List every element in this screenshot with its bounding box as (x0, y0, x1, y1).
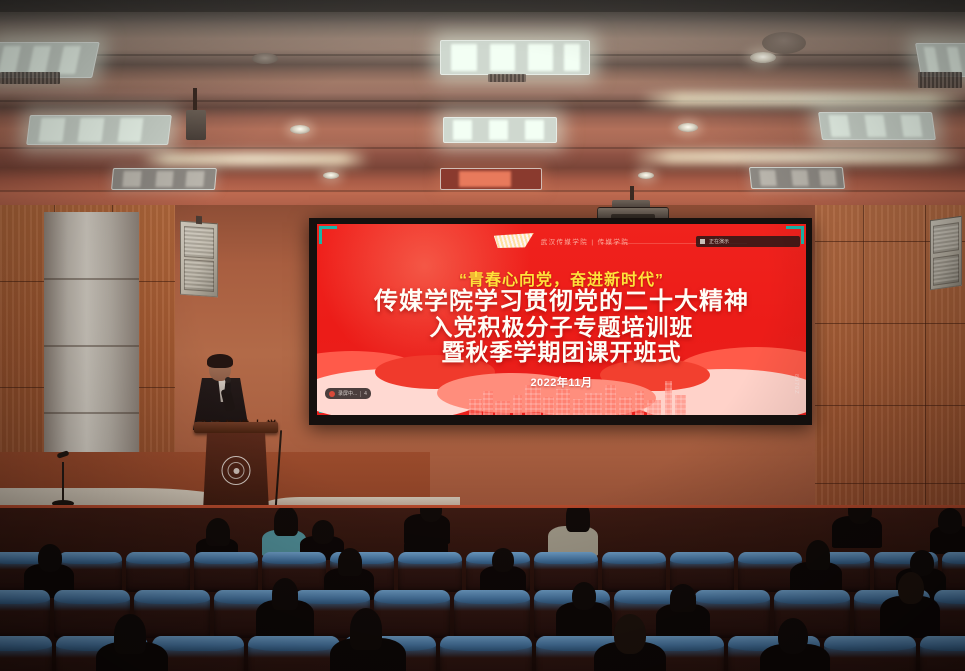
ceiling-panel-light (440, 40, 590, 75)
ceiling-panel-light (111, 168, 217, 190)
auditorium-seat (440, 636, 532, 671)
auditorium-seat (374, 590, 450, 638)
audience-head (272, 578, 298, 610)
audience-head (572, 582, 596, 610)
microphone-capsule-icon (225, 377, 231, 383)
audience-head (114, 614, 146, 654)
presenting-icon (700, 239, 705, 244)
cove-light-strip-3 (630, 150, 965, 164)
slide-title-line-1: 传媒学院学习贯彻党的二十大精神 (317, 290, 806, 316)
audience-head (338, 548, 362, 576)
presenter-hair (207, 354, 233, 368)
podium-top (194, 422, 278, 433)
ceiling-panel-light (818, 112, 936, 140)
audience-head (898, 572, 924, 604)
presenting-label: 正在演示 (709, 238, 729, 245)
audience-head (206, 518, 230, 546)
ceiling-panel-light (26, 115, 172, 145)
fan-logo-icon (494, 233, 534, 248)
slide-side-code: 8070Z (793, 374, 799, 395)
ceiling-conduit (193, 88, 197, 112)
microphone-stand (62, 462, 64, 502)
screen-recording-toolbar[interactable]: 录屏中... 4 (325, 388, 371, 399)
record-indicator-icon (329, 391, 335, 397)
toolbar-divider (360, 391, 361, 397)
audience-head (614, 614, 646, 654)
ceiling-downlight (638, 172, 654, 179)
slide-title-line-2: 入党积极分子专题培训班 (317, 316, 806, 341)
ceiling-panel-light (440, 168, 542, 190)
ceiling-downlight (750, 52, 776, 63)
auditorium-seat (194, 552, 258, 592)
ceiling-panel-light (749, 167, 845, 189)
wall-speaker-right (930, 216, 962, 290)
auditorium-seat (126, 552, 190, 592)
ceiling-sensor-box (186, 110, 206, 140)
ceiling-downlight (678, 123, 698, 132)
slide-title-line-3: 暨秋季学期团课开班式 (317, 341, 806, 366)
auditorium-seat (0, 590, 50, 638)
audience-head (566, 508, 590, 532)
speaker-grill (184, 259, 214, 292)
ceiling-air-vent (488, 74, 526, 82)
audience-seating (0, 508, 965, 671)
speaker-grill (184, 226, 214, 259)
slide-content: 武汉传媒学院 | 传媒学院 “青春心向党，奋进新时代” 传媒学院学习贯彻党的二十… (317, 224, 806, 415)
auditorium-seat (248, 636, 340, 671)
auditorium-seat (824, 636, 916, 671)
cove-light-strip-1 (640, 92, 965, 106)
record-count: 4 (364, 391, 367, 397)
audience-head (312, 520, 334, 544)
ceiling-downlight (323, 172, 339, 179)
audience-head (778, 618, 808, 654)
record-label: 录屏中... (338, 390, 357, 397)
audience-head (274, 508, 298, 536)
speaker-grill (933, 254, 958, 285)
handheld-microphone (225, 382, 231, 394)
auditorium-seat (920, 636, 965, 671)
auditorium-seat (398, 552, 462, 592)
ceiling-downlight (290, 125, 310, 134)
audience-head (670, 584, 696, 612)
presentation-status-bar[interactable]: 正在演示 (696, 236, 800, 247)
university-seal-icon (222, 456, 251, 485)
audience-head (806, 540, 830, 570)
auditorium-photo: 武汉传媒学院 | 传媒学院 “青春心向党，奋进新时代” 传媒学院学习贯彻党的二十… (0, 0, 965, 671)
ceiling-panel-light (443, 117, 557, 143)
audience-head (38, 544, 62, 572)
ceiling-downlight (252, 53, 278, 64)
audience-head (492, 548, 514, 572)
ceiling-speaker-dome (762, 32, 806, 54)
auditorium-seat (602, 552, 666, 592)
slide-logo-text: 武汉传媒学院 | 传媒学院 (541, 236, 630, 246)
speaker-grill (933, 223, 958, 254)
ceiling-air-vent (918, 72, 962, 88)
audience-head (350, 608, 382, 650)
cove-light-strip-2 (140, 152, 370, 166)
slide-subtitle: “青春心向党，奋进新时代” (317, 266, 806, 290)
ceiling (0, 0, 965, 215)
auditorium-seat (0, 636, 52, 671)
wall-speaker-left (180, 221, 218, 298)
ceiling-air-vent (0, 72, 60, 84)
auditorium-seat (454, 590, 530, 638)
audience-head (938, 508, 962, 534)
projection-screen[interactable]: 武汉传媒学院 | 传媒学院 “青春心向党，奋进新时代” 传媒学院学习贯彻党的二十… (309, 218, 812, 425)
speaker-mount (196, 216, 202, 224)
slide-title: 传媒学院学习贯彻党的二十大精神 入党积极分子专题培训班 暨秋季学期团课开班式 (317, 290, 806, 366)
slide-date: 2022年11月 (317, 374, 806, 390)
